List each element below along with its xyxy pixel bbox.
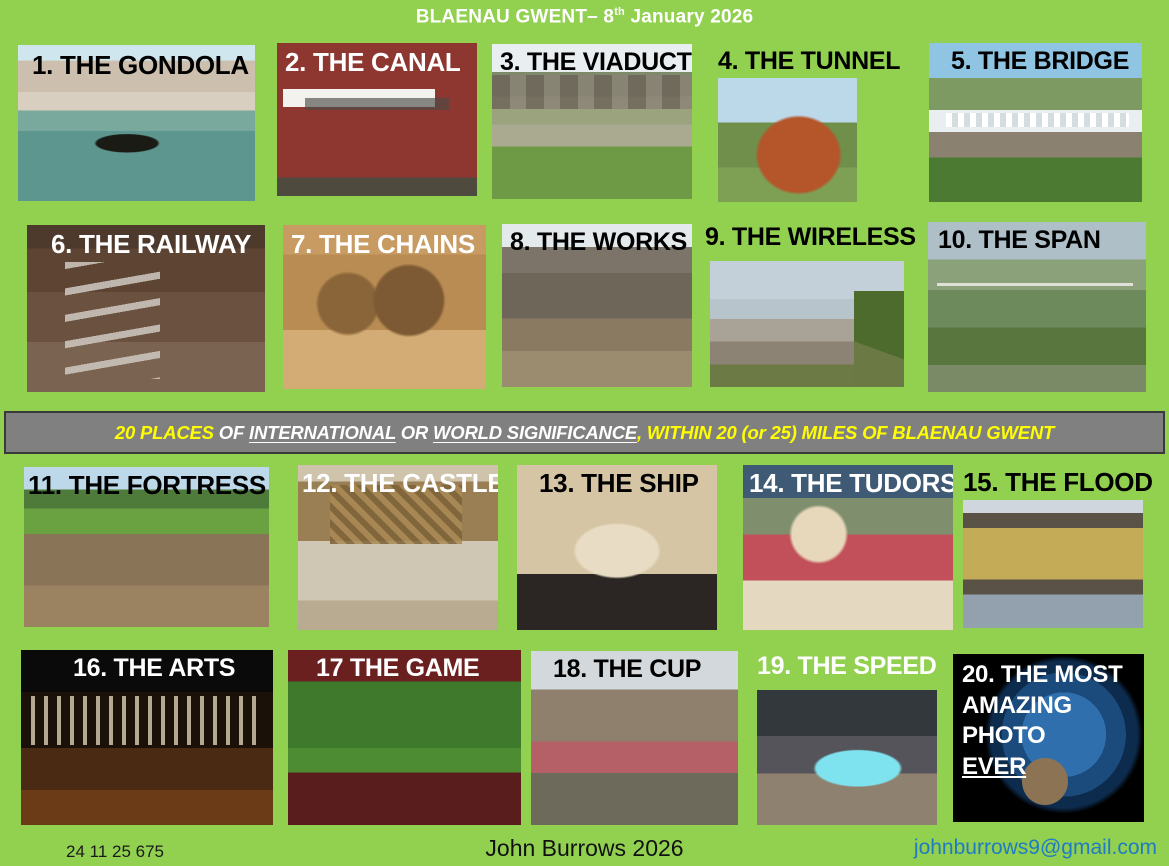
banner-seg-international: INTERNATIONAL [249,422,396,443]
photo-tile-17[interactable]: 17 THE GAME [288,650,521,825]
photo-caption-17: 17 THE GAME [316,655,479,682]
photo-tile-4[interactable] [718,78,857,202]
photo-caption-10: 10. THE SPAN [938,227,1101,254]
photo-tile-15[interactable] [963,500,1143,628]
photo-caption-7: 7. THE CHAINS [291,230,475,258]
photo-caption-20-line2: AMAZING [962,691,1122,722]
photo-tile-7[interactable]: 7. THE CHAINS [283,225,486,389]
photo-caption-14: 14. THE TUDORS [749,469,953,497]
photo-caption-18: 18. THE CUP [553,656,701,683]
photo-image-tunnel [718,78,857,202]
banner-seg-or: OR [396,422,433,443]
photo-caption-9: 9. THE WIRELESS [705,224,916,251]
photo-caption-12: 12. THE CASTLE [302,469,498,497]
photo-tile-5[interactable]: 5. THE BRIDGE [929,43,1142,202]
title-prefix: BLAENAU GWENT– 8 [416,6,615,27]
photo-tile-2[interactable]: 2. THE CANAL [277,43,477,196]
photo-tile-19[interactable] [757,690,937,825]
photo-tile-14[interactable]: 14. THE TUDORS [743,465,953,630]
slide-canvas: BLAENAU GWENT– 8th January 2026 1. THE G… [0,0,1169,866]
photo-image-flood [963,500,1143,628]
photo-caption-8: 8. THE WORKS [510,229,687,256]
banner-seg-places: 20 PLACES [115,422,219,443]
photo-caption-20-line1: 20. THE MOST [962,660,1122,691]
photo-tile-11[interactable]: 11. THE FORTRESS [24,467,269,627]
photo-caption-1: 1. THE GONDOLA [32,51,249,79]
photo-tile-13[interactable]: 13. THE SHIP [517,465,717,630]
photo-caption-16: 16. THE ARTS [73,655,235,682]
photo-caption-6: 6. THE RAILWAY [51,230,251,258]
photo-caption-11: 11. THE FORTRESS [28,471,266,499]
photo-image-wireless [710,261,904,387]
banner-seg-world-significance: WORLD SIGNIFICANCE [433,422,637,443]
photo-tile-1[interactable]: 1. THE GONDOLA [18,45,255,201]
footer-email-link[interactable]: johnburrows9@gmail.com [914,836,1157,860]
photo-tile-18[interactable]: 18. THE CUP [531,651,738,825]
photo-caption-4: 4. THE TUNNEL [718,48,900,75]
photo-caption-20-line4: EVER [962,752,1122,783]
photo-tile-9[interactable] [710,261,904,387]
photo-tile-8[interactable]: 8. THE WORKS [502,224,692,387]
banner-seg-of: OF [219,422,249,443]
significance-banner: 20 PLACES OF INTERNATIONAL OR WORLD SIGN… [4,411,1165,454]
title-suffix: January 2026 [625,6,753,27]
photo-tile-6[interactable]: 6. THE RAILWAY [27,225,265,392]
photo-tile-3[interactable]: 3. THE VIADUCT [492,44,692,199]
photo-caption-5: 5. THE BRIDGE [951,48,1129,75]
page-title: BLAENAU GWENT– 8th January 2026 [0,6,1169,28]
photo-caption-20: 20. THE MOST AMAZING PHOTO EVER [962,660,1122,783]
photo-image-speed [757,690,937,825]
photo-caption-13: 13. THE SHIP [539,469,699,497]
photo-caption-15: 15. THE FLOOD [963,468,1153,496]
banner-seg-within: WITHIN 20 (or 25) MILES OF BLAENAU GWENT [647,422,1054,443]
title-ordinal-suffix: th [614,6,625,18]
photo-caption-2: 2. THE CANAL [285,48,461,76]
banner-seg-comma: , [637,422,647,443]
photo-tile-20[interactable]: 20. THE MOST AMAZING PHOTO EVER [953,654,1144,822]
photo-tile-12[interactable]: 12. THE CASTLE [298,465,498,630]
photo-caption-20-line3: PHOTO [962,721,1122,752]
photo-caption-3: 3. THE VIADUCT [500,49,692,76]
photo-tile-16[interactable]: 16. THE ARTS [21,650,273,825]
photo-tile-10[interactable]: 10. THE SPAN [928,222,1146,392]
banner-text: 20 PLACES OF INTERNATIONAL OR WORLD SIGN… [115,422,1054,444]
photo-caption-19: 19. THE SPEED [757,653,937,680]
